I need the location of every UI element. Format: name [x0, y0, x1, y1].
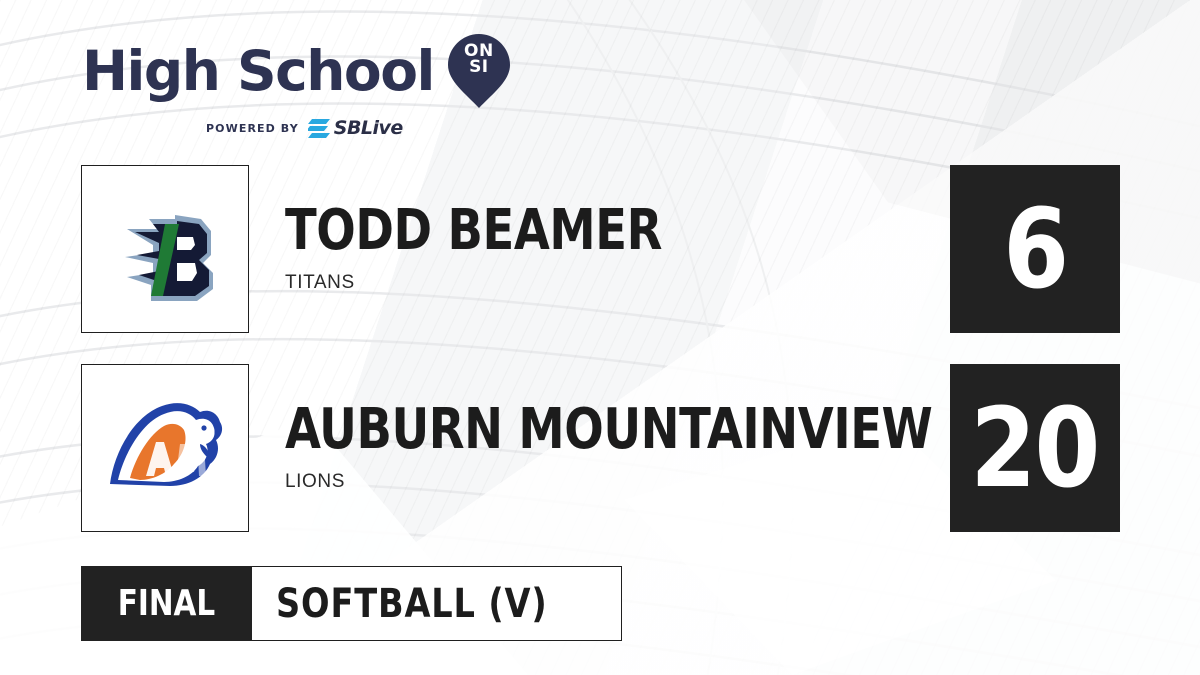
team-logo-card	[81, 165, 249, 333]
sport-label: SOFTBALL (V)	[276, 584, 548, 624]
team-score-box: 6	[950, 165, 1120, 333]
powered-by-label: POWERED BY	[206, 122, 299, 135]
brand-wordmark: High School	[82, 44, 434, 99]
team-mascot: LIONS	[285, 471, 1065, 493]
team-info: TODD BEAMER TITANS	[285, 165, 739, 333]
team-info: AUBURN MOUNTAINVIEW LIONS	[285, 364, 1065, 532]
team-row: AUBURN MOUNTAINVIEW LIONS 20	[0, 364, 1200, 534]
team-logo-card	[81, 364, 249, 532]
sblive-logo: SBLive	[308, 119, 403, 138]
team-mascot: TITANS	[285, 272, 739, 294]
todd-beamer-titans-logo	[105, 189, 225, 309]
team-name: TODD BEAMER	[285, 204, 662, 259]
sport-label-panel: SOFTBALL (V)	[252, 566, 622, 641]
brand-header: High School ON SI POWERED BY SBLive	[82, 34, 512, 138]
status-bar: FINAL SOFTBALL (V)	[81, 566, 622, 641]
sblive-wordmark: SBLive	[334, 119, 403, 138]
pin-label-line2: SI	[448, 59, 510, 75]
game-status-badge: FINAL	[81, 566, 252, 641]
scoreboard-graphic: High School ON SI POWERED BY SBLive	[0, 0, 1200, 675]
team-score-box: 20	[950, 364, 1120, 532]
game-status-label: FINAL	[118, 586, 216, 622]
powered-by-row: POWERED BY SBLive	[206, 119, 512, 138]
sblive-s-icon	[308, 119, 330, 138]
location-pin-icon: ON SI	[448, 34, 510, 108]
team-score: 6	[1003, 194, 1067, 304]
team-row: TODD BEAMER TITANS 6	[0, 165, 1200, 335]
brand-logo-row: High School ON SI	[82, 34, 512, 108]
team-score: 20	[971, 393, 1099, 503]
team-name: AUBURN MOUNTAINVIEW	[285, 403, 932, 458]
auburn-mountainview-lions-logo	[100, 392, 230, 504]
pin-label: ON SI	[448, 43, 510, 75]
